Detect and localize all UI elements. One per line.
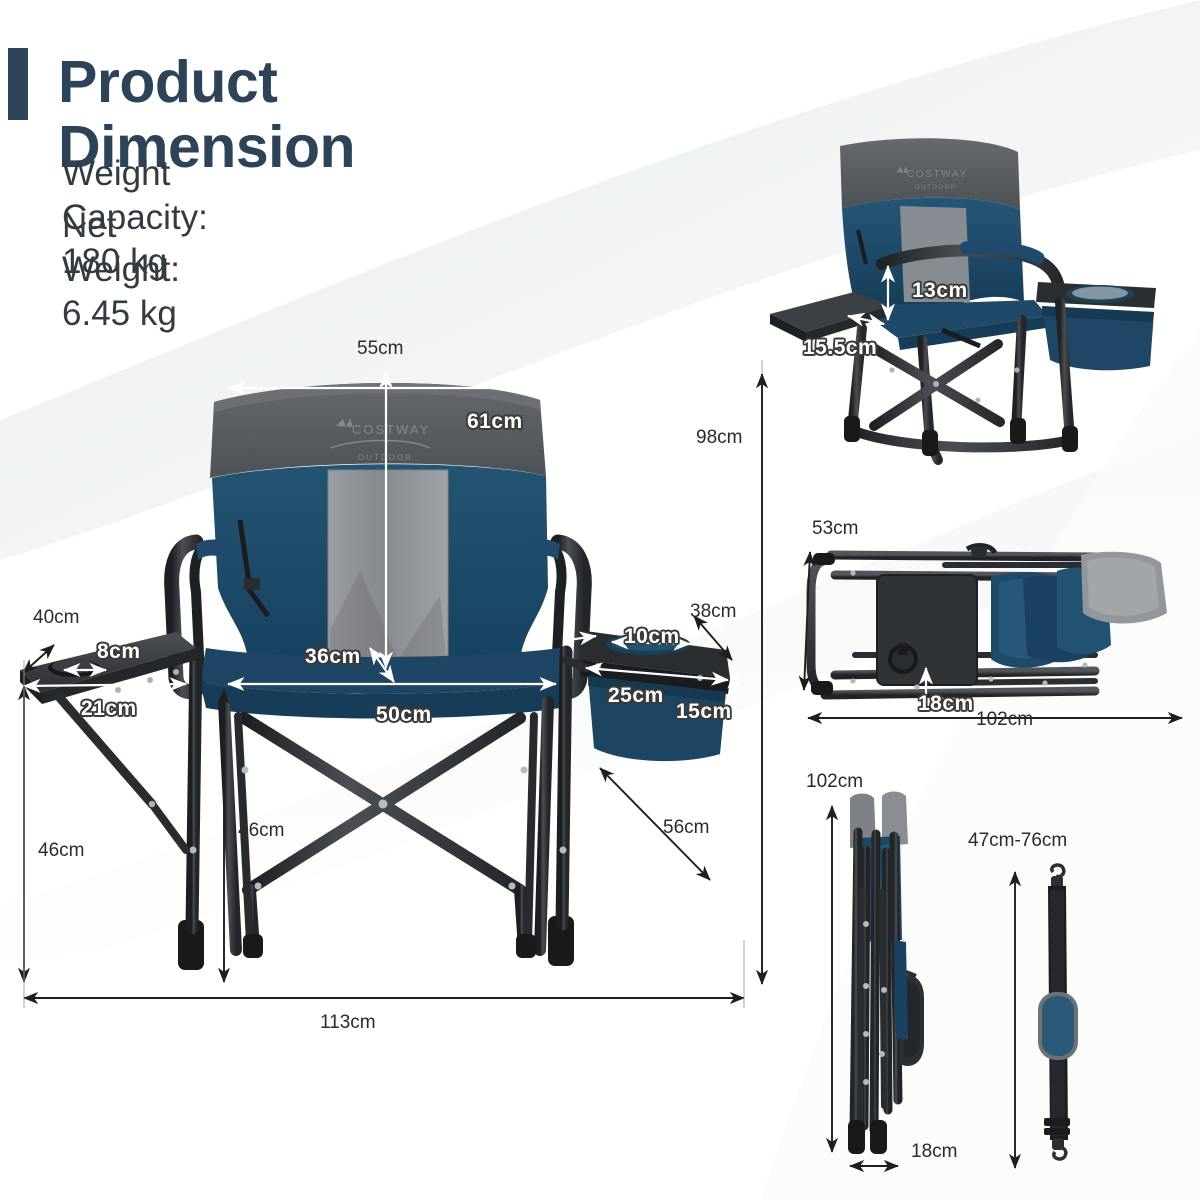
shoulder-strap-view	[1010, 860, 1110, 1170]
dimension-label-armrest-gap: 13cm	[912, 279, 968, 303]
strap-shoulder-pad	[1038, 992, 1078, 1060]
net-weight-text: Net Weight: 6.45 kg	[62, 204, 180, 335]
dimension-label-backrest-height: 61cm	[467, 410, 523, 434]
dimension-label-overall-height: 98cm	[696, 427, 742, 449]
backrest-fabric	[208, 464, 548, 682]
dimension-label-seat-height: 46cm	[238, 820, 284, 842]
dimension-label-cooler-height: 15cm	[676, 700, 732, 724]
folded-gray-pouch	[1081, 552, 1167, 624]
left-side-table	[20, 632, 196, 850]
dimension-label-seat-width: 50cm	[376, 703, 432, 727]
dimension-label-cupholder-dia: 8cm	[97, 640, 141, 664]
svg-text:OUTDOOR: OUTDOOR	[358, 453, 413, 462]
strap-adjuster	[1044, 1118, 1070, 1126]
main-chair-front-view: COSTWAY OUTDOOR	[0, 330, 780, 1030]
svg-text:COSTWAY: COSTWAY	[907, 169, 968, 180]
dimension-label-strap-length: 47cm-76cm	[968, 830, 1067, 852]
side-left-table	[770, 292, 890, 342]
dimension-label-top-width: 55cm	[357, 338, 403, 360]
dimension-label-folded-length: 102cm	[976, 709, 1033, 731]
folded-flat-view	[795, 535, 1195, 725]
accent-bar	[8, 48, 28, 120]
armpad-left	[196, 540, 230, 561]
dimension-label-table-width: 21cm	[81, 697, 137, 721]
dimension-label-cooler-depth: 38cm	[690, 601, 736, 623]
dimension-label-upright-thickness: 18cm	[911, 1141, 957, 1163]
svg-text:OUTDOOR: OUTDOOR	[915, 185, 957, 191]
folded-tabletop	[877, 575, 977, 685]
dimension-label-overall-width: 113cm	[320, 1012, 376, 1034]
dimension-label-folded-thickness: 18cm	[918, 692, 974, 716]
dimension-label-seat-depth: 36cm	[305, 645, 361, 669]
dimension-label-cooler-width: 25cm	[608, 684, 664, 708]
dimension-label-table-height: 46cm	[38, 840, 84, 862]
side-cooler	[1036, 282, 1156, 370]
strap-hook-top	[1052, 865, 1064, 876]
side-profile-chair-view: COSTWAY OUTDOOR	[770, 130, 1190, 490]
dimension-label-overall-depth: 56cm	[663, 817, 709, 839]
dimension-label-upright-height: 102cm	[806, 771, 863, 793]
dimension-label-cooler-opening: 10cm	[624, 625, 680, 649]
dimension-label-folded-height: 53cm	[812, 518, 858, 540]
dimension-label-table-drop: 15.5cm	[803, 336, 877, 360]
folded-upright-view	[820, 790, 970, 1180]
svg-text:COSTWAY: COSTWAY	[352, 422, 430, 437]
dimension-label-table-depth: 40cm	[33, 607, 79, 629]
